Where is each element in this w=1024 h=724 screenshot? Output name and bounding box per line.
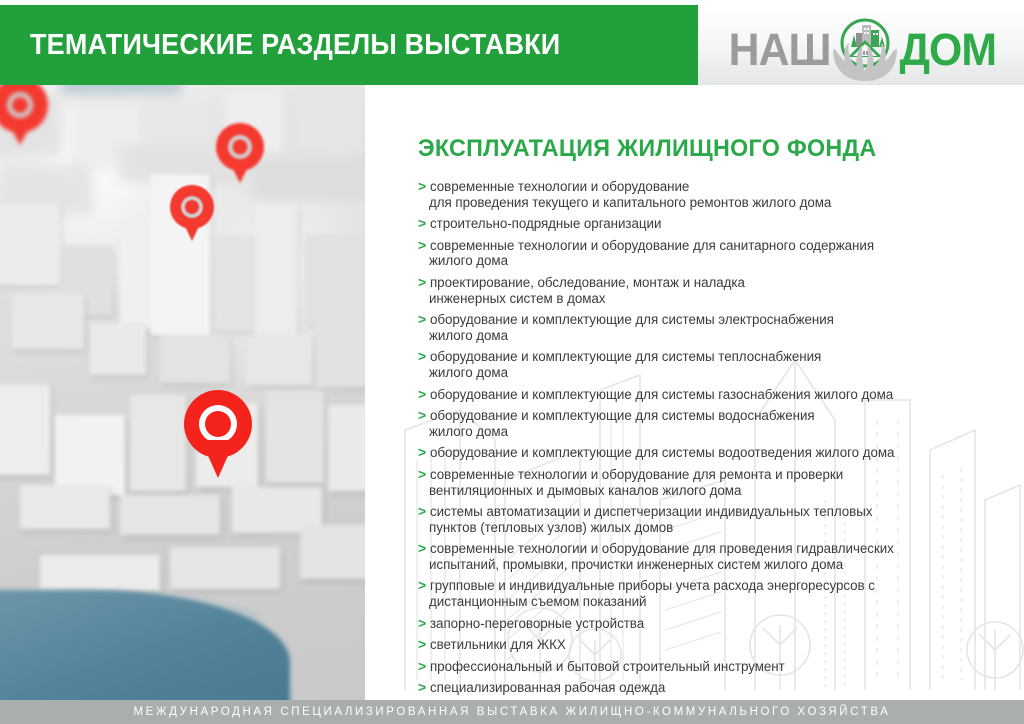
topic-list-item: > оборудование и комплектующие для систе… (418, 312, 1008, 343)
topic-list-item: > современные технологии и оборудование … (418, 541, 1008, 572)
topic-list-item-text: запорно-переговорные устройства (430, 616, 644, 631)
topic-list-item-text: современные технологии и оборудование дл… (430, 238, 874, 253)
topic-list-item: > системы автоматизации и диспетчеризаци… (418, 504, 1008, 535)
topic-list-item: > запорно-переговорные устройства (418, 616, 1008, 632)
bullet-marker-icon: > (418, 386, 430, 402)
topic-list-item: > современные технологии и оборудование … (418, 467, 1008, 498)
topic-list-item: > оборудование и комплектующие для систе… (418, 408, 1008, 439)
topic-list-item-text: групповые и индивидуальные приборы учета… (430, 578, 875, 593)
topic-list-item-text: дистанционным съемом показаний (429, 594, 646, 609)
topic-list-item: > оборудование и комплектующие для систе… (418, 387, 1008, 403)
bullet-marker-icon: > (418, 679, 430, 695)
topic-list-item: > групповые и индивидуальные приборы уче… (418, 578, 1008, 609)
bullet-marker-icon: > (418, 466, 430, 482)
topic-list-item-text: инженерных систем в домах (429, 291, 605, 306)
topic-list-item: > проектирование, обследование, монтаж и… (418, 275, 1008, 306)
topic-list-item: > строительно-подрядные организации (418, 216, 1008, 232)
topic-list-item-text: системы автоматизации и диспетчеризации … (430, 504, 873, 519)
map-pin-main (184, 390, 252, 458)
main-content: ЭКСПЛУАТАЦИЯ ЖИЛИЩНОГО ФОНДА > современн… (418, 135, 1008, 702)
topic-list-item-text: оборудование и комплектующие для системы… (430, 312, 834, 327)
topic-list-item-text: испытаний, промывки, прочистки инженерны… (429, 557, 843, 572)
topic-list-item: > современные технологии и оборудованиед… (418, 179, 1008, 210)
topic-list-item-text: оборудование и комплектующие для системы… (430, 387, 893, 402)
topic-list-item: > светильники для ЖКХ (418, 637, 1008, 653)
topic-list-item-text: для проведения текущего и капитального р… (429, 195, 831, 210)
bullet-marker-icon: > (418, 636, 430, 652)
footer-bar: МЕЖДУНАРОДНАЯ СПЕЦИАЛИЗИРОВАННАЯ ВЫСТАВК… (0, 700, 1024, 724)
bullet-marker-icon: > (418, 215, 430, 231)
topic-list-item: > оборудование и комплектующие для систе… (418, 445, 1008, 461)
topic-list-item-text: профессиональный и бытовой строительный … (430, 659, 785, 674)
house-in-hands-emblem (829, 13, 901, 85)
footer-text: МЕЖДУНАРОДНАЯ СПЕЦИАЛИЗИРОВАННАЯ ВЫСТАВК… (134, 706, 891, 718)
logo-word-nash: НАШ (728, 27, 830, 72)
bullet-marker-icon: > (418, 615, 430, 631)
topic-list-item: > современные технологии и оборудование … (418, 238, 1008, 269)
topic-list-item-text: жилого дома (429, 365, 508, 380)
topic-list-item-text: специализированная рабочая одежда (430, 680, 665, 695)
topic-list-item-text: оборудование и комплектующие для системы… (430, 445, 894, 460)
logo-word-dom: ДОМ (899, 27, 995, 72)
topic-list-item-text: оборудование и комплектующие для системы… (430, 349, 821, 364)
bullet-marker-icon: > (418, 407, 430, 423)
bullet-marker-icon: > (418, 178, 430, 194)
page-title: ТЕМАТИЧЕСКИЕ РАЗДЕЛЫ ВЫСТАВКИ (30, 29, 560, 62)
map-pin-upper-right (216, 123, 264, 171)
city-model-photo (0, 85, 365, 700)
map-pin-center (170, 185, 214, 229)
topic-list: > современные технологии и оборудованиед… (418, 179, 1008, 696)
bullet-marker-icon: > (418, 540, 430, 556)
bullet-marker-icon: > (418, 311, 430, 327)
slide-root: ТЕМАТИЧЕСКИЕ РАЗДЕЛЫ ВЫСТАВКИ НАШ (0, 0, 1024, 724)
topic-list-item-text: современные технологии и оборудование (430, 179, 689, 194)
brand-logo: НАШ (700, 8, 1024, 90)
topic-list-item-text: жилого дома (429, 424, 508, 439)
topic-list-item-text: современные технологии и оборудование дл… (430, 541, 894, 556)
bullet-marker-icon: > (418, 577, 430, 593)
topic-list-item-text: пунктов (тепловых узлов) жилых домов (429, 520, 673, 535)
topic-list-item: > профессиональный и бытовой строительны… (418, 659, 1008, 675)
topic-list-item: > оборудование и комплектующие для систе… (418, 349, 1008, 380)
topic-list-item-text: современные технологии и оборудование дл… (430, 467, 843, 482)
section-title: ЭКСПЛУАТАЦИЯ ЖИЛИЩНОГО ФОНДА (418, 135, 990, 163)
topic-list-item-text: жилого дома (429, 328, 508, 343)
bullet-marker-icon: > (418, 658, 430, 674)
header-band: ТЕМАТИЧЕСКИЕ РАЗДЕЛЫ ВЫСТАВКИ (0, 5, 698, 85)
topic-list-item-text: оборудование и комплектующие для системы… (430, 408, 815, 423)
topic-list-item-text: жилого дома (429, 253, 508, 268)
topic-list-item-text: вентиляционных и дымовых каналов жилого … (429, 483, 741, 498)
bullet-marker-icon: > (418, 274, 430, 290)
bullet-marker-icon: > (418, 348, 430, 364)
bullet-marker-icon: > (418, 237, 430, 253)
topic-list-item-text: проектирование, обследование, монтаж и н… (430, 275, 745, 290)
bullet-marker-icon: > (418, 444, 430, 460)
topic-list-item-text: светильники для ЖКХ (430, 637, 566, 652)
map-pin-top-left (0, 85, 48, 133)
bullet-marker-icon: > (418, 503, 430, 519)
topic-list-item-text: строительно-подрядные организации (430, 216, 661, 231)
topic-list-item: > специализированная рабочая одежда (418, 680, 1008, 696)
